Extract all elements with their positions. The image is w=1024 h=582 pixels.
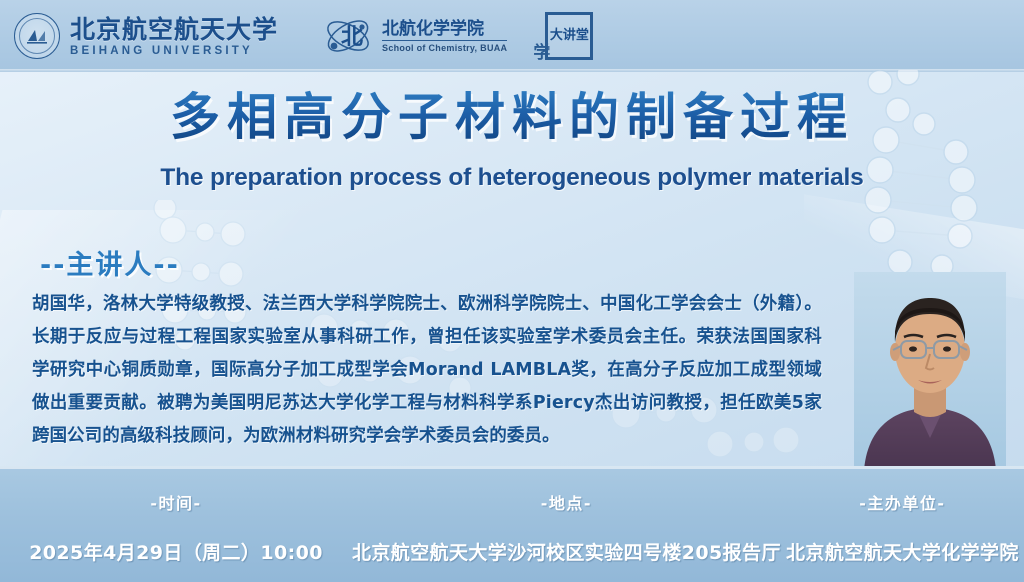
- footer-info-bar: -时间- 2025年4月29日（周二）10:00 -地点- 北京航空航天大学沙河…: [0, 466, 1024, 582]
- portrait-photo-icon: [854, 272, 1006, 470]
- logo-beihang-cn-text: 北京航空航天大学: [70, 16, 278, 43]
- square-seal-icon: 大讲堂: [545, 12, 593, 60]
- footer-host-column: -主办单位- 北京航空航天大学化学学院: [781, 466, 1024, 582]
- footer-host-value: 北京航空航天大学化学学院: [786, 538, 1019, 565]
- lecture-poster: 北京航空航天大学 BEIHANG UNIVERSITY 北 北航化学学院 Sch…: [0, 0, 1024, 582]
- footer-time-label: -时间-: [150, 490, 201, 514]
- speaker-section-label: --主讲人--: [40, 243, 180, 282]
- header-logo-bar: 北京航空航天大学 BEIHANG UNIVERSITY 北 北航化学学院 Sch…: [0, 0, 1024, 72]
- footer-time-column: -时间- 2025年4月29日（周二）10:00: [0, 466, 352, 582]
- svg-text:北: 北: [341, 25, 363, 50]
- logo-school-of-chemistry: 北 北航化学学院 School of Chemistry, BUAA: [322, 12, 507, 60]
- title-section: 多相高分子材料的制备过程 The preparation process of …: [0, 86, 1024, 192]
- seal-emblem-icon: [26, 27, 48, 45]
- page-title: 多相高分子材料的制备过程: [0, 86, 1024, 148]
- logo-chemistry-cn-text: 北航化学学院: [382, 19, 507, 41]
- page-subtitle: The preparation process of heterogeneous…: [0, 164, 1024, 192]
- footer-place-label: -地点-: [541, 490, 592, 514]
- lecture-seal-en-text: 大讲堂: [550, 30, 589, 42]
- speaker-portrait: [854, 272, 1006, 470]
- chemistry-atom-icon: 北: [322, 12, 374, 60]
- logo-chemistry-en-text: School of Chemistry, BUAA: [382, 43, 507, 53]
- footer-host-label: -主办单位-: [859, 490, 945, 514]
- logo-beihang-university: 北京航空航天大学 BEIHANG UNIVERSITY: [14, 13, 278, 59]
- footer-time-value: 2025年4月29日（周二）10:00: [29, 538, 323, 565]
- speaker-biography: 胡国华，洛林大学特级教授、法兰西大学科学院院士、欧洲科学院院士、中国化工学会会士…: [32, 288, 822, 453]
- footer-place-value: 北京航空航天大学沙河校区实验四号楼205报告厅: [352, 538, 781, 565]
- university-seal-icon: [14, 13, 60, 59]
- logo-lecture-series: 学 大讲堂: [545, 12, 593, 60]
- logo-beihang-en-text: BEIHANG UNIVERSITY: [70, 45, 278, 57]
- footer-place-column: -地点- 北京航空航天大学沙河校区实验四号楼205报告厅: [352, 466, 781, 582]
